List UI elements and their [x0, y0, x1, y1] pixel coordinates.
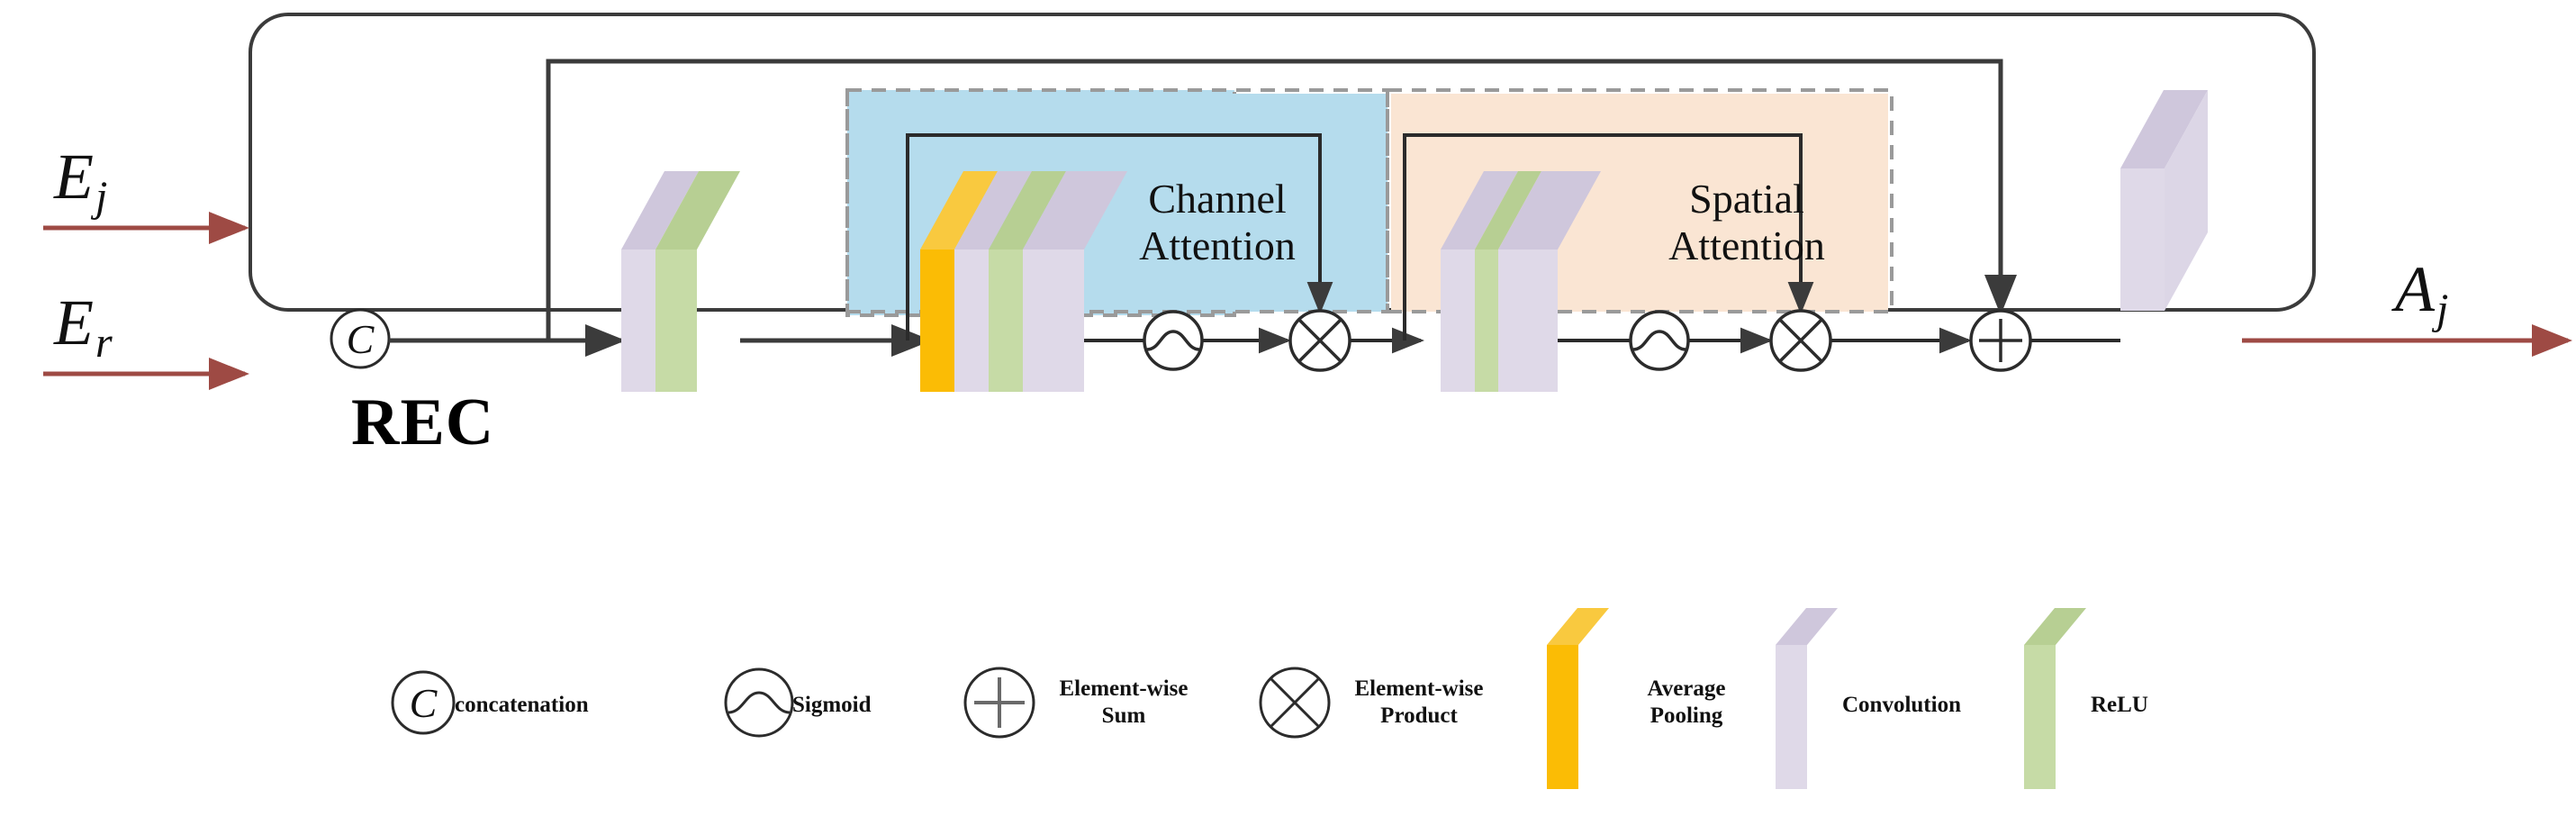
input-label-er: Er — [54, 290, 113, 365]
channel-relu-slab-face — [989, 250, 1023, 392]
input-label-er-sub: r — [94, 319, 113, 367]
output-conv-slab-face — [2120, 168, 2165, 311]
legend-product-line2: Product — [1329, 703, 1509, 730]
spatial-attention-label-line2: Attention — [1630, 222, 1864, 269]
input-label-ej-sub: j — [94, 173, 107, 221]
spatial-conv2-slab-face — [1498, 250, 1558, 392]
spatial-conv1-slab-face — [1441, 250, 1475, 392]
channel-attention-label-line2: Attention — [1100, 222, 1334, 269]
legend-conv-slab-top — [1776, 608, 1838, 645]
legend-sigmoid-label: Sigmoid — [792, 692, 872, 719]
legend-concatenation-label: concatenation — [455, 692, 589, 719]
legend-concat-glyph: C — [410, 680, 438, 726]
legend-avgpool-line2: Pooling — [1605, 703, 1767, 730]
legend-element-wise-sum-label: Element-wise Sum — [1034, 676, 1214, 730]
legend-avgpool-slab-top — [1547, 608, 1609, 645]
legend-relu-slab-face — [2024, 645, 2056, 789]
input-label-ej: Ej — [54, 144, 107, 219]
channel-conv2-slab-face — [1023, 250, 1084, 392]
concatenation-glyph: C — [347, 316, 375, 362]
legend-sum-line2: Sum — [1034, 703, 1214, 730]
relu1-slab-face — [655, 250, 697, 392]
spatial-attention-label-line1: Spatial — [1630, 176, 1864, 222]
legend-relu-label: ReLU — [2091, 692, 2148, 719]
legend-product-line1: Element-wise — [1329, 676, 1509, 703]
channel-avgpool-slab-face — [920, 250, 954, 392]
conv1-slab-face — [621, 250, 655, 392]
legend-avgpool-slab-face — [1547, 645, 1578, 789]
input-label-ej-base: E — [54, 141, 94, 213]
legend-element-wise-product-label: Element-wise Product — [1329, 676, 1509, 730]
legend-convolution-label: Convolution — [1842, 692, 1961, 719]
output-label-aj-base: A — [2395, 253, 2435, 325]
input-label-er-base: E — [54, 286, 94, 359]
spatial-sigmoid-icon — [1631, 312, 1688, 369]
spatial-attention-label: Spatial Attention — [1630, 176, 1864, 268]
legend-sum-line1: Element-wise — [1034, 676, 1214, 703]
channel-conv1-slab-face — [954, 250, 989, 392]
output-label-aj-sub: j — [2435, 286, 2448, 333]
legend-avgpool-line1: Average — [1605, 676, 1767, 703]
spatial-relu-slab-face — [1475, 250, 1498, 392]
channel-sigmoid-icon — [1144, 312, 1202, 369]
legend-sigmoid-icon — [726, 669, 792, 736]
output-label-aj: Aj — [2395, 257, 2448, 331]
rec-module-title: REC — [351, 389, 494, 456]
channel-attention-label-line1: Channel — [1100, 176, 1334, 222]
legend-relu-slab-top — [2024, 608, 2086, 645]
channel-attention-label: Channel Attention — [1100, 176, 1334, 268]
legend-conv-slab-face — [1776, 645, 1807, 789]
diagram-canvas: C — [0, 0, 2576, 826]
legend-average-pooling-label: Average Pooling — [1605, 676, 1767, 730]
